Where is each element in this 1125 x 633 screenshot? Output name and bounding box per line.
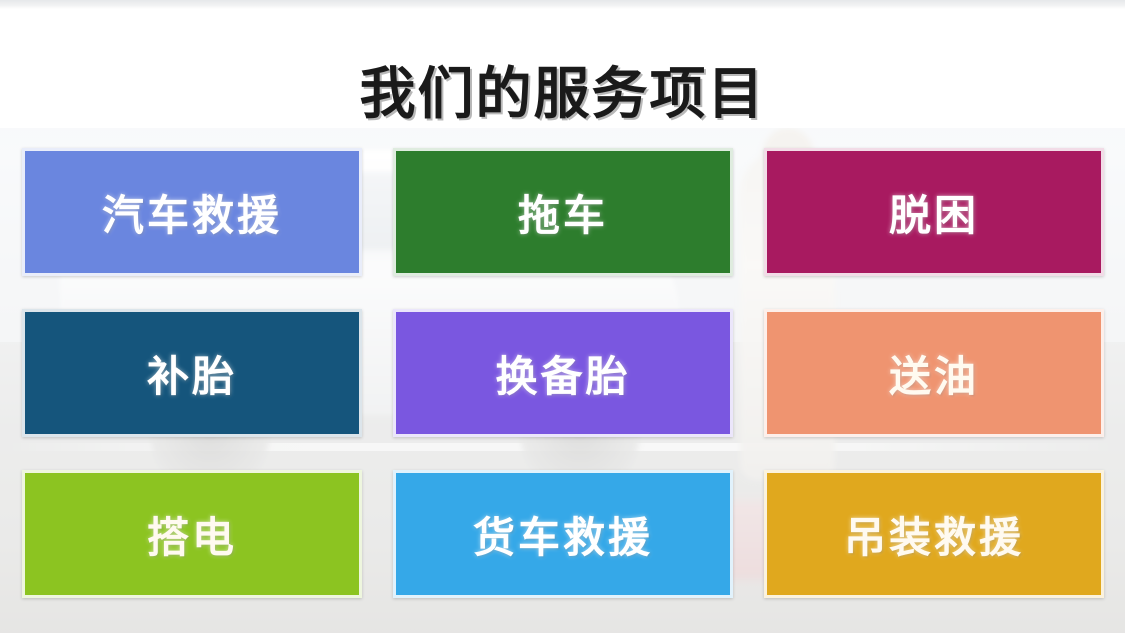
service-tile-grid: 汽车救援 拖车 脱困 补胎 换备胎 送油 搭电 货车救援 吊装救援 [22, 148, 1104, 600]
service-tile-crane-rescue[interactable]: 吊装救援 [764, 470, 1104, 598]
service-tile-truck-rescue[interactable]: 货车救援 [393, 470, 733, 598]
top-edge-band [0, 0, 1125, 9]
service-tile-label: 吊装救援 [844, 504, 1024, 565]
service-tile-label: 货车救援 [473, 504, 653, 565]
service-tile-spare-tire-change[interactable]: 换备胎 [393, 309, 733, 437]
service-tile-label: 送油 [889, 343, 979, 404]
service-tile-label: 搭电 [147, 504, 237, 565]
service-tile-car-rescue[interactable]: 汽车救援 [22, 148, 362, 276]
page-title: 我们的服务项目 [0, 60, 1125, 127]
service-tile-label: 汽车救援 [102, 182, 282, 243]
service-tile-fuel-delivery[interactable]: 送油 [764, 309, 1104, 437]
service-tile-label: 补胎 [147, 343, 237, 404]
service-tile-towing[interactable]: 拖车 [393, 148, 733, 276]
service-tile-label: 脱困 [889, 182, 979, 243]
service-items-poster: 我们的服务项目 汽车救援 拖车 脱困 补胎 换备胎 送油 搭电 货车救援 吊装救… [0, 0, 1125, 633]
service-tile-extrication[interactable]: 脱困 [764, 148, 1104, 276]
service-tile-tire-repair[interactable]: 补胎 [22, 309, 362, 437]
service-tile-label: 换备胎 [495, 343, 630, 404]
service-tile-label: 拖车 [518, 182, 608, 243]
service-tile-jump-start[interactable]: 搭电 [22, 470, 362, 598]
